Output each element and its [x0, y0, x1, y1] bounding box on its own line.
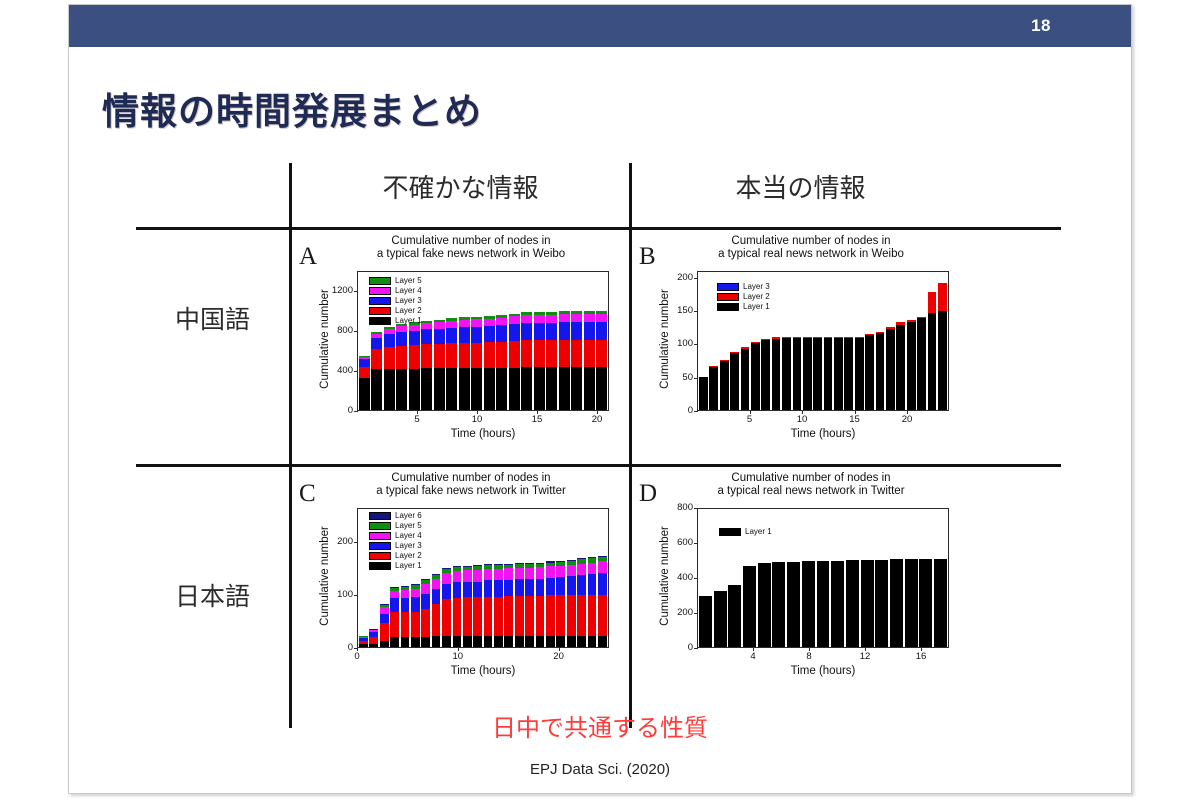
- chart-title-b-line1: Cumulative number of nodes in: [661, 235, 961, 248]
- x-tick-mark: [458, 647, 459, 651]
- bar-segment: [473, 582, 482, 598]
- bar-segment: [494, 580, 503, 596]
- legend-swatch-icon: [717, 293, 739, 301]
- bar-segment: [409, 369, 420, 411]
- bar-segment: [743, 566, 756, 647]
- bar: [834, 337, 843, 410]
- bar-segment: [432, 636, 441, 647]
- y-tick-a-0: 0: [319, 405, 353, 416]
- legend-swatch-icon: [369, 542, 391, 550]
- bar-segment: [380, 614, 389, 623]
- bar: [484, 564, 493, 647]
- bar: [494, 564, 503, 647]
- bar-segment: [556, 636, 565, 647]
- bar: [504, 564, 513, 647]
- chart-title-c-line2: a typical fake news network in Twitter: [321, 485, 621, 498]
- plot-area-b: Cumulative number050100150200Layer 3Laye…: [635, 263, 965, 459]
- bar-segment: [359, 359, 370, 367]
- bar-segment: [421, 584, 430, 594]
- bar: [521, 312, 532, 410]
- bar-segment: [577, 575, 586, 595]
- bar: [886, 327, 895, 410]
- bar-segment: [577, 636, 586, 647]
- bar-segment: [446, 343, 457, 368]
- chart-title-c-line1: Cumulative number of nodes in: [321, 472, 621, 485]
- chart-title-a: Cumulative number of nodes in a typical …: [321, 235, 621, 261]
- bar: [567, 560, 576, 647]
- bar: [434, 320, 445, 410]
- legend-label: Layer 4: [395, 532, 422, 540]
- slide: 18 情報の時間発展まとめ 不確かな情報 本当の情報 中国語 日本語 A Cum…: [68, 4, 1132, 794]
- bar-segment: [396, 346, 407, 369]
- plot-area-c: Cumulative number0100200Layer 6Layer 5La…: [295, 500, 625, 696]
- bar-segment: [484, 569, 493, 581]
- bar: [905, 559, 918, 647]
- bar-segment: [459, 327, 470, 343]
- bar-segment: [813, 338, 822, 410]
- bar-segment: [730, 353, 739, 410]
- bar: [401, 586, 410, 647]
- y-tick-b-150: 150: [659, 305, 693, 316]
- bar-segment: [504, 568, 513, 580]
- bar-segment: [446, 328, 457, 344]
- legend-label: Layer 4: [395, 287, 422, 295]
- bar: [824, 337, 833, 410]
- bar-segment: [917, 318, 926, 410]
- bar-segment: [421, 637, 430, 647]
- bar-segment: [525, 596, 534, 636]
- citation: EPJ Data Sci. (2020): [69, 761, 1131, 778]
- bar-segment: [546, 595, 555, 636]
- bar: [559, 311, 570, 410]
- bar-segment: [442, 636, 451, 647]
- bar: [813, 337, 822, 410]
- bar-segment: [728, 585, 741, 647]
- bar-segment: [567, 565, 576, 577]
- legend-item: Layer 3: [369, 542, 422, 550]
- bar: [577, 558, 586, 647]
- bar-segment: [421, 344, 432, 368]
- x-tick-mark: [537, 410, 538, 414]
- bar: [730, 352, 739, 410]
- legend-item: Layer 4: [369, 287, 422, 295]
- bar: [584, 311, 595, 410]
- bar-segment: [546, 323, 557, 340]
- x-tick-mark: [753, 647, 754, 651]
- matrix-row-header-chinese: 中国語: [136, 300, 289, 336]
- bar-segment: [536, 567, 545, 579]
- y-tick-d-200: 200: [659, 607, 693, 618]
- bar-segment: [761, 340, 770, 410]
- bar-segment: [504, 636, 513, 647]
- y-axis-label-a: Cumulative number: [319, 279, 331, 399]
- y-tick-d-800: 800: [659, 502, 693, 513]
- bar-segment: [409, 345, 420, 369]
- bar-segment: [588, 636, 597, 647]
- bar-segment: [876, 333, 885, 410]
- bar: [803, 337, 812, 410]
- bar-segment: [515, 579, 524, 596]
- bar-segment: [459, 368, 470, 410]
- bar-segment: [782, 338, 791, 410]
- bar-segment: [401, 612, 410, 637]
- bar: [793, 337, 802, 410]
- bar: [728, 585, 741, 647]
- legend-item: Layer 5: [369, 522, 422, 530]
- x-tick-a-10: 10: [464, 414, 490, 425]
- x-tick-b-15: 15: [842, 414, 868, 425]
- legend-label: Layer 3: [743, 283, 770, 291]
- legend-swatch-icon: [369, 532, 391, 540]
- bar-segment: [865, 335, 874, 410]
- bar-segment: [409, 331, 420, 346]
- bar-segment: [453, 598, 462, 637]
- bar: [907, 320, 916, 410]
- bar-segment: [556, 595, 565, 636]
- bar-segment: [521, 340, 532, 367]
- legend-item: Layer 2: [369, 552, 422, 560]
- bar: [743, 566, 756, 647]
- bar: [409, 322, 420, 410]
- bar-segment: [384, 347, 395, 369]
- bar-segment: [509, 341, 520, 368]
- bar-segment: [453, 582, 462, 598]
- y-axis-label-c: Cumulative number: [319, 516, 331, 636]
- bar-segment: [471, 368, 482, 410]
- bar-segment: [442, 584, 451, 599]
- bar-segment: [536, 596, 545, 637]
- bar-segment: [446, 321, 457, 328]
- bar-segment: [434, 368, 445, 410]
- legend-item: Layer 1: [719, 528, 772, 536]
- bar-segment: [390, 637, 399, 647]
- bar-segment: [521, 367, 532, 410]
- bar: [699, 596, 712, 647]
- bar: [896, 322, 905, 410]
- bar-segment: [496, 318, 507, 326]
- bar-segment: [588, 595, 597, 637]
- bar-segment: [484, 342, 495, 368]
- bar-segment: [596, 314, 607, 322]
- x-tick-d-4: 4: [740, 651, 766, 662]
- x-tick-d-12: 12: [852, 651, 878, 662]
- x-tick-mark: [357, 647, 358, 651]
- bar-segment: [817, 561, 830, 647]
- x-tick-mark: [559, 647, 560, 651]
- bar-segment: [577, 564, 586, 576]
- bar: [359, 636, 368, 647]
- bar: [802, 561, 815, 647]
- chart-cell-c: C Cumulative number of nodes in a typica…: [295, 470, 625, 698]
- bar: [534, 312, 545, 410]
- legend-label: Layer 1: [743, 303, 770, 311]
- bar-segment: [831, 561, 844, 647]
- bar-segment: [824, 338, 833, 410]
- bar-segment: [559, 340, 570, 367]
- bar: [928, 292, 937, 410]
- bar: [714, 591, 727, 647]
- bar: [390, 587, 399, 647]
- bar-segment: [359, 644, 368, 647]
- legend-label: Layer 2: [395, 552, 422, 560]
- legend-swatch-icon: [717, 303, 739, 311]
- bar-segment: [421, 368, 432, 410]
- legend-swatch-icon: [369, 277, 391, 285]
- matrix-vertical-divider-2: [629, 163, 632, 728]
- legend-swatch-icon: [717, 283, 739, 291]
- legend-item: Layer 3: [717, 283, 770, 291]
- legend-a: Layer 5Layer 4Layer 3Layer 2Layer 1: [369, 277, 422, 327]
- bar-segment: [584, 340, 595, 367]
- bar-segment: [919, 559, 932, 647]
- bar-segment: [484, 319, 495, 326]
- chart-title-d-line2: a typical real news network in Twitter: [661, 485, 961, 498]
- bar: [919, 559, 932, 647]
- bar: [699, 377, 708, 410]
- bar-segment: [471, 343, 482, 369]
- bar: [396, 324, 407, 410]
- bar-segment: [504, 596, 513, 636]
- bar: [938, 283, 947, 410]
- bar-segment: [846, 560, 859, 647]
- bar-segment: [534, 315, 545, 323]
- bar-segment: [515, 636, 524, 647]
- y-tick-d-0: 0: [659, 642, 693, 653]
- bar-segment: [934, 559, 947, 647]
- bar: [484, 316, 495, 410]
- bar-segment: [494, 597, 503, 637]
- chart-title-c: Cumulative number of nodes in a typical …: [321, 472, 621, 498]
- bar: [861, 560, 874, 647]
- legend-swatch-icon: [369, 512, 391, 520]
- bar-segment: [446, 368, 457, 410]
- bar-segment: [359, 378, 370, 410]
- y-tick-mark: [354, 411, 358, 412]
- y-tick-c-100: 100: [319, 589, 353, 600]
- bar-segment: [699, 377, 708, 410]
- y-tick-b-200: 200: [659, 272, 693, 283]
- bar-segment: [907, 322, 916, 410]
- bar-segment: [720, 361, 729, 410]
- bar-segment: [559, 314, 570, 322]
- bar: [844, 337, 853, 410]
- bar-segment: [534, 367, 545, 410]
- legend-d: Layer 1: [719, 528, 772, 538]
- bar-segment: [421, 594, 430, 609]
- y-tick-a-800: 800: [319, 325, 353, 336]
- bar: [432, 574, 441, 647]
- bar-segment: [596, 322, 607, 340]
- bar: [509, 314, 520, 410]
- bar-segment: [546, 566, 555, 578]
- bar: [515, 563, 524, 647]
- x-axis-label-d: Time (hours): [697, 665, 949, 677]
- matrix-row-header-japanese: 日本語: [136, 577, 289, 613]
- bar: [384, 327, 395, 410]
- bar-segment: [571, 314, 582, 322]
- bar-segment: [521, 315, 532, 323]
- legend-label: Layer 5: [395, 277, 422, 285]
- bar: [453, 566, 462, 647]
- bar-segment: [571, 367, 582, 410]
- bar-segment: [758, 563, 771, 647]
- x-tick-a-15: 15: [524, 414, 550, 425]
- y-tick-a-1200: 1200: [319, 285, 353, 296]
- bar-segment: [484, 368, 495, 410]
- bar: [371, 332, 382, 410]
- bar-segment: [484, 597, 493, 637]
- chart-title-d-line1: Cumulative number of nodes in: [661, 472, 961, 485]
- legend-item: Layer 6: [369, 512, 422, 520]
- bar: [546, 561, 555, 647]
- x-tick-b-5: 5: [737, 414, 763, 425]
- legend-label: Layer 5: [395, 522, 422, 530]
- bar: [421, 321, 432, 410]
- bar: [772, 562, 785, 647]
- y-tick-b-50: 50: [659, 372, 693, 383]
- x-tick-b-10: 10: [789, 414, 815, 425]
- bar-segment: [534, 340, 545, 367]
- bar-segment: [714, 591, 727, 647]
- bar-segment: [471, 327, 482, 343]
- bar-segment: [463, 636, 472, 647]
- x-tick-c-10: 10: [445, 651, 471, 662]
- bar-segment: [709, 367, 718, 410]
- bar-segment: [434, 329, 445, 344]
- legend-swatch-icon: [369, 317, 391, 325]
- bar-segment: [546, 367, 557, 410]
- bar-segment: [384, 369, 395, 411]
- bar-segment: [442, 573, 451, 584]
- bar-segment: [369, 637, 378, 644]
- legend-swatch-icon: [369, 552, 391, 560]
- bar-segment: [855, 338, 864, 410]
- bar-segment: [886, 329, 895, 410]
- bar-segment: [536, 579, 545, 596]
- bar: [588, 557, 597, 647]
- x-axis-label-c: Time (hours): [357, 665, 609, 677]
- bar-segment: [453, 636, 462, 647]
- bar: [421, 579, 430, 647]
- bar-segment: [515, 596, 524, 636]
- bar-segment: [699, 596, 712, 647]
- bar-segment: [802, 561, 815, 647]
- bar-segment: [751, 343, 760, 410]
- bar-segment: [473, 636, 482, 647]
- bar: [546, 312, 557, 410]
- bar-segment: [584, 314, 595, 322]
- bar-segment: [369, 644, 378, 647]
- bar-segment: [546, 315, 557, 323]
- chart-title-a-line1: Cumulative number of nodes in: [321, 235, 621, 248]
- x-tick-mark: [809, 647, 810, 651]
- x-tick-c-0: 0: [344, 651, 370, 662]
- legend-label: Layer 2: [395, 307, 422, 315]
- bar-segment: [484, 636, 493, 647]
- legend-label: Layer 1: [395, 562, 422, 570]
- bar: [536, 563, 545, 647]
- bar-segment: [546, 636, 555, 647]
- bar-segment: [559, 322, 570, 339]
- bar-segment: [571, 322, 582, 339]
- bar: [442, 568, 451, 647]
- y-tick-mark: [694, 648, 698, 649]
- bar-segment: [525, 636, 534, 647]
- y-tick-mark: [694, 411, 698, 412]
- chart-cell-b: B Cumulative number of nodes in a typica…: [635, 233, 965, 461]
- bar-segment: [598, 595, 607, 637]
- bar-segment: [772, 562, 785, 647]
- bar: [525, 563, 534, 647]
- legend-item: Layer 1: [369, 317, 422, 325]
- bar: [917, 317, 926, 410]
- legend-swatch-icon: [369, 562, 391, 570]
- bar-segment: [598, 636, 607, 647]
- bar-segment: [509, 324, 520, 341]
- bar-segment: [938, 283, 947, 310]
- matrix-vertical-divider-1: [289, 163, 292, 728]
- legend-item: Layer 5: [369, 277, 422, 285]
- legend-item: Layer 2: [369, 307, 422, 315]
- bar-segment: [588, 563, 597, 575]
- chart-title-b-line2: a typical real news network in Weibo: [661, 248, 961, 261]
- bar-segment: [525, 568, 534, 580]
- bar-segment: [421, 329, 432, 344]
- x-tick-a-20: 20: [584, 414, 610, 425]
- y-tick-b-100: 100: [659, 338, 693, 349]
- bar-segment: [834, 338, 843, 410]
- bar-segment: [896, 325, 905, 410]
- bar: [846, 560, 859, 647]
- bar-segment: [596, 340, 607, 368]
- bar-segment: [421, 609, 430, 637]
- matrix-horizontal-divider-top: [136, 227, 1061, 230]
- legend-label: Layer 6: [395, 512, 422, 520]
- bar: [720, 360, 729, 410]
- bar-segment: [534, 323, 545, 340]
- bar: [787, 562, 800, 647]
- y-tick-d-400: 400: [659, 572, 693, 583]
- bar-segment: [504, 580, 513, 596]
- legend-label: Layer 3: [395, 542, 422, 550]
- chart-title-a-line2: a typical fake news network in Weibo: [321, 248, 621, 261]
- bar: [758, 563, 771, 647]
- bar: [571, 311, 582, 410]
- matrix-horizontal-divider-middle: [136, 464, 1061, 467]
- bar-segment: [401, 598, 410, 612]
- bar-segment: [390, 598, 399, 611]
- bar-segment: [571, 340, 582, 367]
- bar-segment: [371, 369, 382, 410]
- bar-segment: [484, 326, 495, 342]
- bar: [751, 342, 760, 410]
- bar-segment: [401, 637, 410, 647]
- bar-segment: [390, 591, 399, 598]
- bar-segment: [577, 595, 586, 637]
- legend-b: Layer 3Layer 2Layer 1: [717, 283, 770, 313]
- bar-segment: [494, 636, 503, 647]
- x-tick-mark: [855, 410, 856, 414]
- legend-label: Layer 2: [743, 293, 770, 301]
- bar: [817, 561, 830, 647]
- bar: [496, 315, 507, 410]
- bar-segment: [494, 569, 503, 581]
- bar-segment: [411, 589, 420, 597]
- bar-segment: [556, 577, 565, 595]
- x-tick-b-20: 20: [894, 414, 920, 425]
- bar-segment: [411, 597, 420, 611]
- x-axis-label-a: Time (hours): [357, 428, 609, 440]
